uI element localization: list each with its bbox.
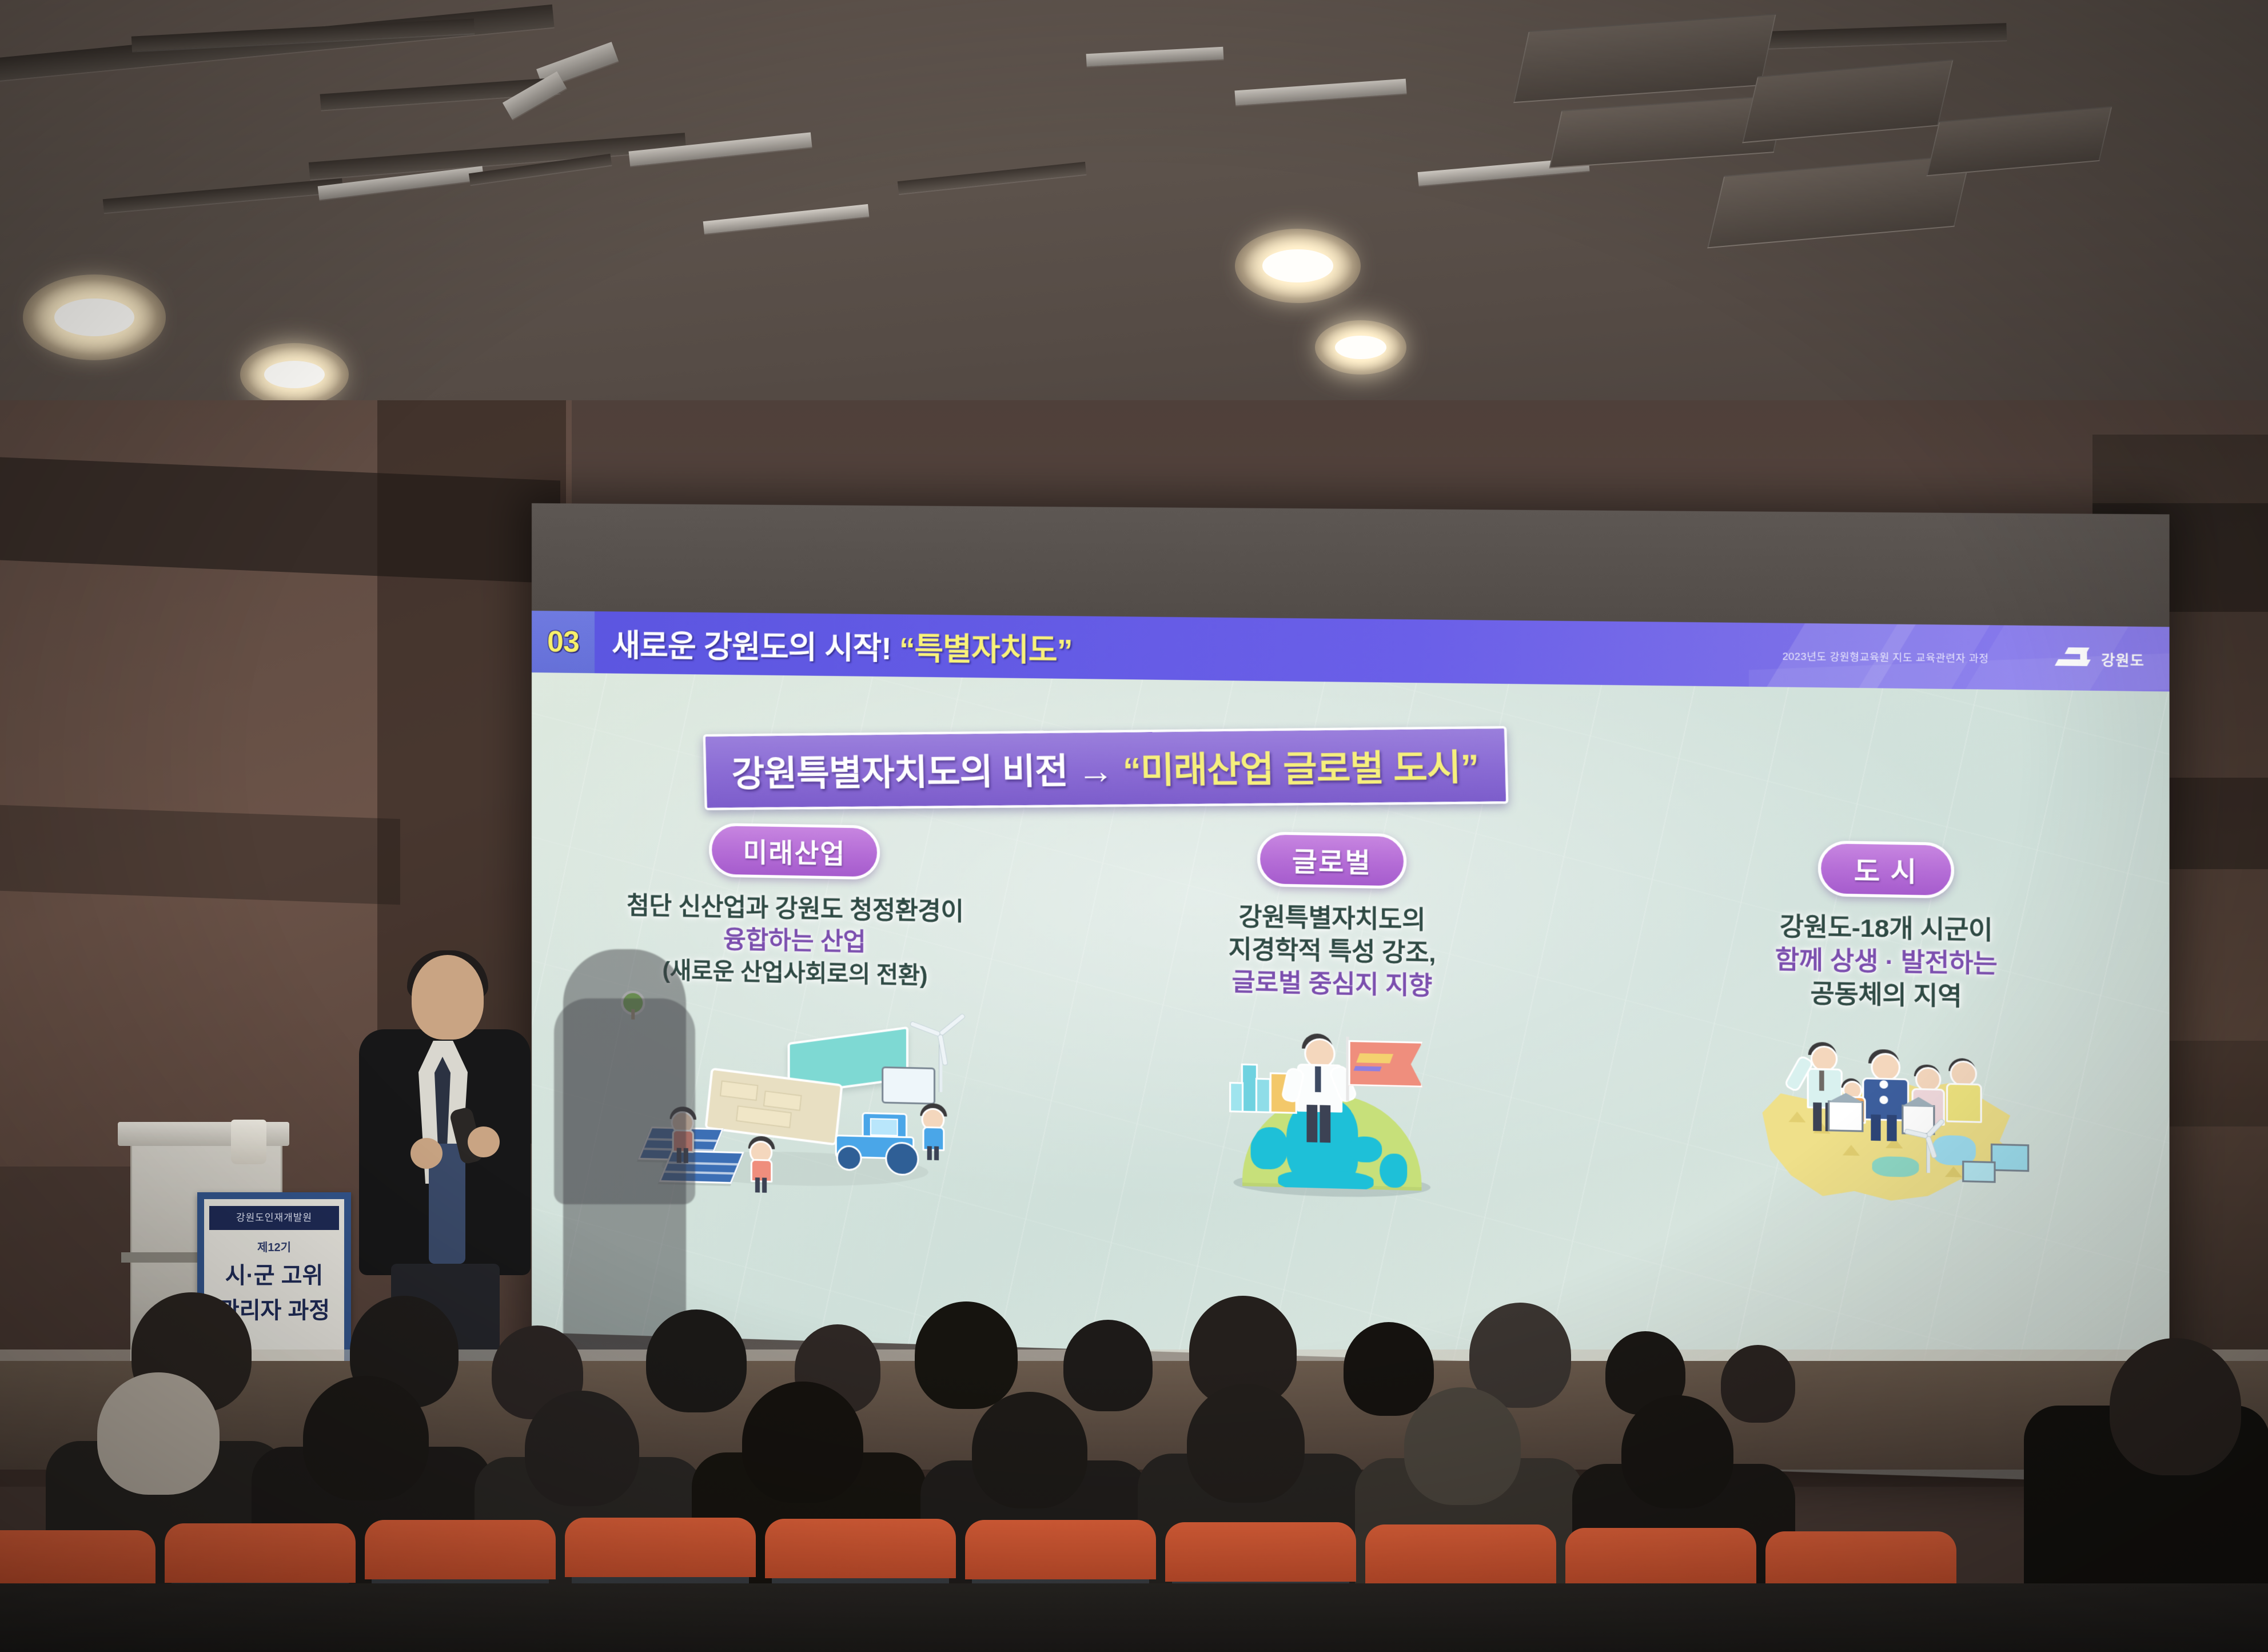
pillar-line: 강원특별자치도의 [1229, 901, 1436, 938]
presenter-head [412, 955, 484, 1040]
presenter-hand [410, 1138, 443, 1169]
audience-head [742, 1382, 863, 1503]
logo-mark-icon [2052, 645, 2092, 672]
pillar-line: 공동체의 지역 [1775, 977, 1998, 1015]
audience-head [1621, 1395, 1733, 1508]
vision-highlight: “미래산업 글로벌 도시” [1122, 747, 1479, 791]
pillar-line: 글로벌 중심지 지향 [1229, 966, 1436, 1003]
vision-heading-box: 강원특별자치도의 비전 → “미래산업 글로벌 도시” [703, 726, 1509, 810]
pillar-line: 함께 상생 · 발전하는 [1775, 944, 1998, 982]
logo-name: 강원도 [2101, 648, 2145, 669]
slide-title-quote: “특별자치도” [899, 631, 1073, 668]
ceiling-downlight [1315, 320, 1406, 375]
presentation-slide: 03 새로운 강원도의 시작! “특별자치도” 2023년도 강원형교육원 지도… [532, 611, 2170, 1383]
pillar-label: 미래산업 [743, 837, 846, 869]
audience-head [525, 1391, 639, 1506]
building-icon [1991, 1143, 2029, 1172]
audience-seating [0, 1269, 2268, 1652]
organization-logo: 강원도 [2052, 645, 2145, 672]
person-figure [749, 1136, 772, 1192]
house-icon [1828, 1100, 1863, 1132]
audience-head [1404, 1387, 1521, 1505]
pillar-description: 강원도-18개 시군이 함께 상생 · 발전하는 공동체의 지역 [1775, 911, 1998, 1015]
flag-icon [1346, 1033, 1424, 1105]
pillar-pill: 글로벌 [1257, 831, 1406, 889]
ceiling-downlight [240, 343, 349, 406]
slide-title-prefix: 새로운 강원도의 시작! [612, 628, 891, 666]
audience-head [1187, 1384, 1305, 1503]
tractor-icon [831, 1112, 919, 1172]
building-icon [1962, 1160, 1995, 1183]
audience-head [1344, 1322, 1434, 1416]
course-meta-text: 2023년도 강원형교육원 지도 교육관련자 과정 [1783, 648, 1989, 665]
vision-heading: 강원특별자치도의 비전 → “미래산업 글로벌 도시” [731, 747, 1479, 794]
audience-head [972, 1392, 1087, 1508]
wind-turbine-icon [1913, 1126, 1943, 1174]
pillar-label: 도 시 [1854, 855, 1918, 887]
audience-head [1721, 1345, 1795, 1423]
audience-head [1063, 1320, 1153, 1411]
presenter-hand [468, 1126, 500, 1157]
aisle-floor [0, 1583, 2268, 1652]
audience-head [97, 1372, 220, 1495]
ceiling-downlight [1235, 229, 1361, 303]
person-figure [1944, 1058, 1982, 1136]
pillar-line: 지경학적 특성 강조, [1229, 934, 1436, 970]
pillar-line: 강원도-18개 시군이 [1775, 911, 1998, 948]
ceiling-downlight [23, 274, 166, 360]
audience-head [2110, 1338, 2241, 1475]
photo-scene: 03 새로운 강원도의 시작! “특별자치도” 2023년도 강원형교육원 지도… [0, 0, 2268, 1652]
slide-number: 03 [547, 624, 579, 659]
pillar-line: 첨단 신산업과 강원도 청정환경이 [627, 890, 963, 929]
slide-number-badge: 03 [532, 611, 595, 673]
pillar-pill: 미래산업 [709, 823, 880, 880]
wind-turbine-icon [922, 1021, 957, 1092]
screen-letterbox-top [532, 503, 2170, 627]
globe-businessman-flag-illustration [1165, 1006, 1500, 1207]
wall-band [0, 805, 400, 905]
vision-lead: 강원특별자치도의 비전 → [731, 751, 1123, 794]
slide-title: 새로운 강원도의 시작! “특별자치도” [612, 620, 1072, 670]
person-figure [921, 1103, 944, 1159]
podium-sign-line1: 제12기 [204, 1238, 344, 1255]
podium-sign-header-text: 강원도인재개발원 [209, 1206, 339, 1230]
podium-sign-header: 강원도인재개발원 [209, 1206, 339, 1230]
pillar-description: 강원특별자치도의 지경학적 특성 강조, 글로벌 중심지 지향 [1229, 901, 1436, 1004]
building-icon [1255, 1078, 1271, 1113]
audience-head [646, 1309, 747, 1412]
businessman-figure [1291, 1033, 1348, 1139]
building-icon [1229, 1082, 1243, 1113]
water-cup [231, 1120, 266, 1164]
pillar-label: 글로벌 [1292, 846, 1372, 878]
audience-head [915, 1301, 1018, 1409]
pillar-pill: 도 시 [1817, 841, 1954, 899]
audience-head [303, 1376, 429, 1500]
gangwon-map-community-illustration [1714, 1017, 2059, 1221]
